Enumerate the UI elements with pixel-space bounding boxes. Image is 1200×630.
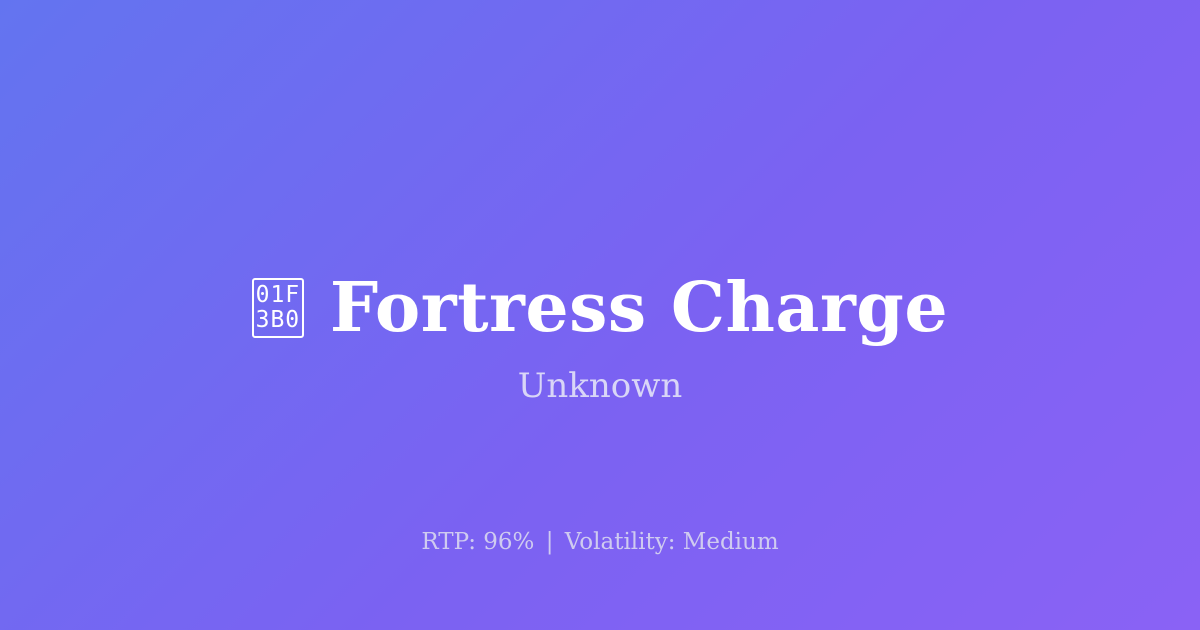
meta-separator: | bbox=[542, 529, 558, 555]
volatility-value: Volatility: Medium bbox=[565, 529, 779, 555]
slot-machine-emoji-icon: 01F 3B0 bbox=[252, 278, 304, 338]
page-title: Fortress Charge bbox=[330, 274, 948, 342]
provider-subtitle: Unknown bbox=[0, 364, 1200, 408]
rtp-value: RTP: 96% bbox=[421, 529, 534, 555]
og-card: 01F 3B0 Fortress Charge Unknown RTP: 96%… bbox=[0, 0, 1200, 630]
game-meta: RTP: 96% | Volatility: Medium bbox=[0, 526, 1200, 558]
